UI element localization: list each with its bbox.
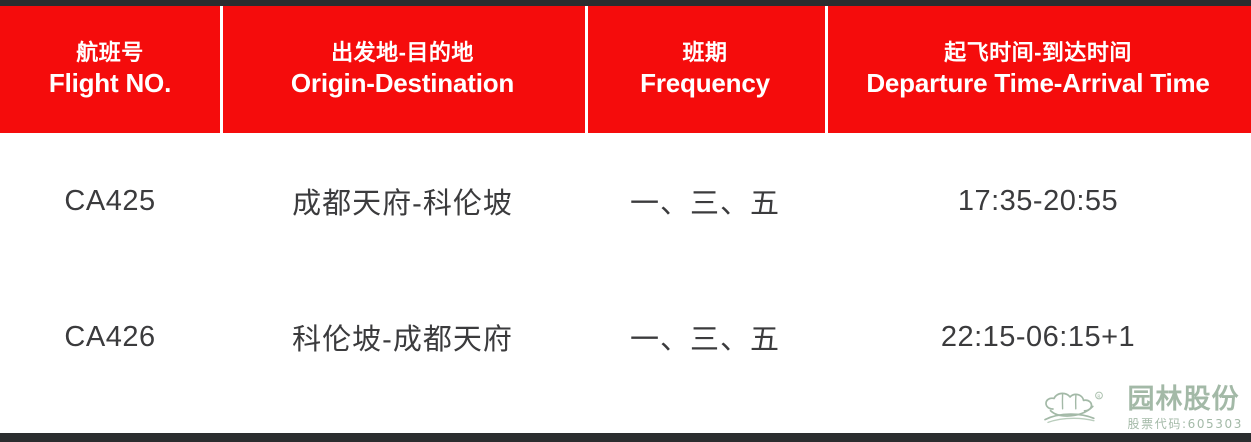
table-header-cell-flight-no: 航班号 Flight NO.	[0, 6, 220, 133]
svg-text:R: R	[1097, 395, 1101, 401]
table-header-cell-frequency: 班期 Frequency	[585, 6, 825, 133]
cell-origin-destination: 成都天府-科伦坡	[220, 133, 585, 269]
header-label-cn-flight-no: 航班号	[76, 40, 144, 66]
header-label-cn-frequency: 班期	[682, 40, 727, 66]
brand-watermark: R 园林股份 股票代码:605303	[1042, 386, 1243, 430]
table-header-cell-departure-arrival-time: 起飞时间-到达时间 Departure Time-Arrival Time	[825, 6, 1251, 133]
header-label-cn-departure-arrival-time: 起飞时间-到达时间	[944, 40, 1132, 66]
brand-stock-code: 股票代码:605303	[1128, 418, 1243, 430]
flight-schedule-screen: 航班号 Flight NO. 出发地-目的地 Origin-Destinatio…	[0, 0, 1251, 442]
header-label-cn-origin-destination: 出发地-目的地	[331, 40, 474, 66]
table-row: CA425 成都天府-科伦坡 一、三、五 17:35-20:55	[0, 133, 1251, 269]
brand-text-block: 园林股份 股票代码:605303	[1128, 386, 1243, 430]
table-row: CA426 科伦坡-成都天府 一、三、五 22:15-06:15+1	[0, 269, 1251, 405]
brand-name: 园林股份	[1128, 386, 1243, 413]
cell-departure-arrival-time: 17:35-20:55	[825, 133, 1251, 269]
table-header-cell-origin-destination: 出发地-目的地 Origin-Destination	[220, 6, 585, 133]
header-label-en-frequency: Frequency	[640, 68, 770, 99]
cell-origin-destination: 科伦坡-成都天府	[220, 269, 585, 405]
header-label-en-origin-destination: Origin-Destination	[291, 68, 514, 99]
table-header-row: 航班号 Flight NO. 出发地-目的地 Origin-Destinatio…	[0, 6, 1251, 133]
cell-frequency: 一、三、五	[585, 269, 825, 405]
header-label-en-flight-no: Flight NO.	[49, 68, 171, 99]
cell-flight-no: CA426	[0, 269, 220, 405]
cell-frequency: 一、三、五	[585, 133, 825, 269]
bottom-edge-strip	[0, 433, 1251, 442]
header-label-en-departure-arrival-time: Departure Time-Arrival Time	[866, 68, 1209, 99]
garden-cloud-icon: R	[1042, 388, 1120, 428]
cell-flight-no: CA425	[0, 133, 220, 269]
